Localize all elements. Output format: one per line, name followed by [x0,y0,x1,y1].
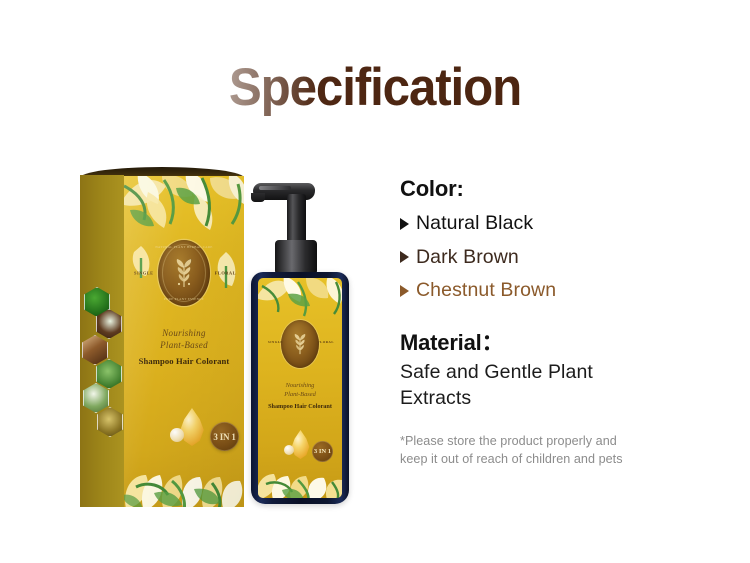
bottle-badge-3in1: 3 IN 1 [312,441,333,462]
storage-note: *Please store the product properly and k… [400,433,675,467]
color-option-label: Chestnut Brown [416,274,556,308]
product-bottle: SINGLE FLORAL Nourishing Plant-Based Sha… [245,174,355,507]
box-side-panel [80,175,124,507]
material-value-line1: Safe and Gentle Plant [400,360,660,386]
box-front-panel: NATURAL PLANT HERBAL CARE PURE PLANT ESS… [124,176,244,507]
color-option-natural-black: Natural Black [400,207,730,241]
ingredient-hex-icon [97,407,123,437]
box-script-line1: Nourishing [124,328,244,338]
specification-page: Specification [0,0,750,563]
product-image: NATURAL PLANT HERBAL CARE PURE PLANT ESS… [58,160,388,520]
bottle-label: SINGLE FLORAL Nourishing Plant-Based Sha… [258,278,342,498]
bottle-body: SINGLE FLORAL Nourishing Plant-Based Sha… [251,272,349,504]
ingredient-hex-icon [83,383,109,413]
pump-nozzle [251,193,265,202]
storage-note-line2: keep it out of reach of children and pet… [400,451,675,468]
emblem-arc-bottom-text: PURE PLANT ESSENCE [164,297,204,301]
badge-3in1-label: 3 IN 1 [213,432,235,442]
specification-details: Color: Natural Black Dark Brown Chestnut… [400,176,730,468]
bottle-brand-word-single: SINGLE [268,340,283,344]
triangle-bullet-icon [400,285,409,297]
bottle-herb-sprig-icon [292,333,308,355]
bottle-oil-droplet-icon [290,430,311,459]
badge-3in1: 3 IN 1 [210,422,239,451]
pump-collar [275,240,317,274]
storage-note-line1: *Please store the product properly and [400,433,675,450]
bottle-droplet-pearl-icon [284,445,294,455]
triangle-bullet-icon [400,218,409,230]
bottle-brand-emblem [281,320,319,368]
material-value-line2: Extracts [400,386,660,412]
product-box: NATURAL PLANT HERBAL CARE PURE PLANT ESS… [80,167,244,507]
ingredient-hex-icon [96,359,122,389]
page-title: Specification [26,57,724,118]
box-product-name: Shampoo Hair Colorant [124,356,244,366]
color-options-list: Natural Black Dark Brown Chestnut Brown [400,207,730,308]
pump-stem [287,194,306,244]
brand-word-single: SINGLE [134,271,154,276]
brand-word-floral: FLORAL [215,271,236,276]
emblem-arc-top-text: NATURAL PLANT HERBAL CARE [155,245,212,249]
color-option-label: Natural Black [416,207,533,241]
floral-illustration-top [124,176,244,236]
oil-droplet-icon [178,408,206,446]
triangle-bullet-icon [400,251,409,263]
bottle-floral-top [258,278,342,322]
bottle-script-line1: Nourishing [258,382,342,389]
bottle-brand-word-floral: FLORAL [318,340,334,344]
color-section-label: Color: [400,176,730,202]
bottle-product-name: Shampoo Hair Colorant [258,403,342,410]
bottle-badge-3in1-label: 3 IN 1 [314,448,331,455]
material-value: Safe and Gentle Plant Extracts [400,360,660,412]
ingredient-hex-icon [82,335,108,365]
brand-emblem: NATURAL PLANT HERBAL CARE PURE PLANT ESS… [158,240,210,306]
box-script-line2: Plant-Based [124,340,244,350]
droplet-pearl-icon [170,428,184,442]
color-option-dark-brown: Dark Brown [400,241,730,275]
herb-sprig-icon [173,258,195,288]
bottle-script-line2: Plant-Based [258,391,342,398]
color-option-chestnut-brown: Chestnut Brown [400,274,730,308]
color-option-label: Dark Brown [416,241,519,275]
material-section-label: Material： [400,325,730,357]
